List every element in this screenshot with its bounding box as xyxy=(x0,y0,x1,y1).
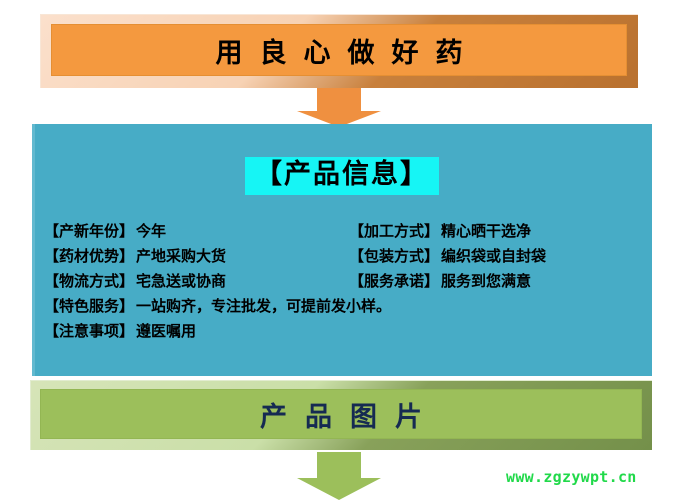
spec-row: 【药材优势】 产地采购大货 【包装方式】 编织袋或自封袋 xyxy=(44,245,644,270)
spec-key: 【注意事项】 xyxy=(44,320,134,341)
site-watermark: www.zgzywpt.cn xyxy=(506,468,637,486)
slogan-banner: 用良心做好药 xyxy=(40,14,638,88)
product-spec-list: 【产新年份】 今年 【加工方式】 精心晒干选净 【药材优势】 产地采购大货 【包… xyxy=(44,220,644,345)
spec-value: 一站购齐，专注批发，可提前发小样。 xyxy=(136,295,391,316)
spec-cell-left: 【产新年份】 今年 xyxy=(44,220,349,241)
spec-row: 【物流方式】 宅急送或协商 【服务承诺】 服务到您满意 xyxy=(44,270,644,295)
spec-key: 【加工方式】 xyxy=(349,220,439,241)
product-info-title-wrap: 【产品信息】 xyxy=(32,157,652,195)
slogan-banner-inner: 用良心做好药 xyxy=(51,24,627,76)
spec-value: 精心晒干选净 xyxy=(441,220,531,241)
spec-key: 【包装方式】 xyxy=(349,245,439,266)
product-info-title: 【产品信息】 xyxy=(245,157,439,195)
spec-value: 今年 xyxy=(136,220,166,241)
spec-value: 服务到您满意 xyxy=(441,270,531,291)
spec-row: 【注意事项】 遵医嘱用 xyxy=(44,320,644,345)
spec-value: 宅急送或协商 xyxy=(136,270,226,291)
spec-key: 【产新年份】 xyxy=(44,220,134,241)
arrow-shaft xyxy=(315,88,363,113)
product-photos-banner: 产品图片 xyxy=(30,380,652,450)
product-info-panel: 【产品信息】 【产新年份】 今年 【加工方式】 精心晒干选净 【药材优势】 产地… xyxy=(32,124,652,376)
spec-cell-right: 【服务承诺】 服务到您满意 xyxy=(349,270,644,291)
spec-value: 编织袋或自封袋 xyxy=(441,245,546,266)
spec-value: 遵医嘱用 xyxy=(136,320,196,341)
down-arrow-green-icon xyxy=(297,452,381,500)
spec-cell-right: 【包装方式】 编织袋或自封袋 xyxy=(349,245,644,266)
spec-value: 产地采购大货 xyxy=(136,245,226,266)
down-arrow-orange-icon xyxy=(297,88,381,126)
spec-key: 【物流方式】 xyxy=(44,270,134,291)
spec-key: 【特色服务】 xyxy=(44,295,134,316)
spec-cell-left: 【物流方式】 宅急送或协商 xyxy=(44,270,349,291)
spec-row: 【产新年份】 今年 【加工方式】 精心晒干选净 xyxy=(44,220,644,245)
arrow-shaft xyxy=(315,452,363,480)
spec-row: 【特色服务】 一站购齐，专注批发，可提前发小样。 xyxy=(44,295,644,320)
spec-key: 【服务承诺】 xyxy=(349,270,439,291)
photos-banner-inner: 产品图片 xyxy=(40,389,642,439)
spec-cell-right: 【加工方式】 精心晒干选净 xyxy=(349,220,644,241)
product-detail-graphic: 用良心做好药 【产品信息】 【产新年份】 今年 【加工方式】 精心晒干选净 xyxy=(0,0,680,500)
slogan-text: 用良心做好药 xyxy=(199,31,480,70)
product-photos-text: 产品图片 xyxy=(242,395,440,434)
spec-cell-left: 【药材优势】 产地采购大货 xyxy=(44,245,349,266)
arrow-head xyxy=(297,478,381,500)
spec-key: 【药材优势】 xyxy=(44,245,134,266)
